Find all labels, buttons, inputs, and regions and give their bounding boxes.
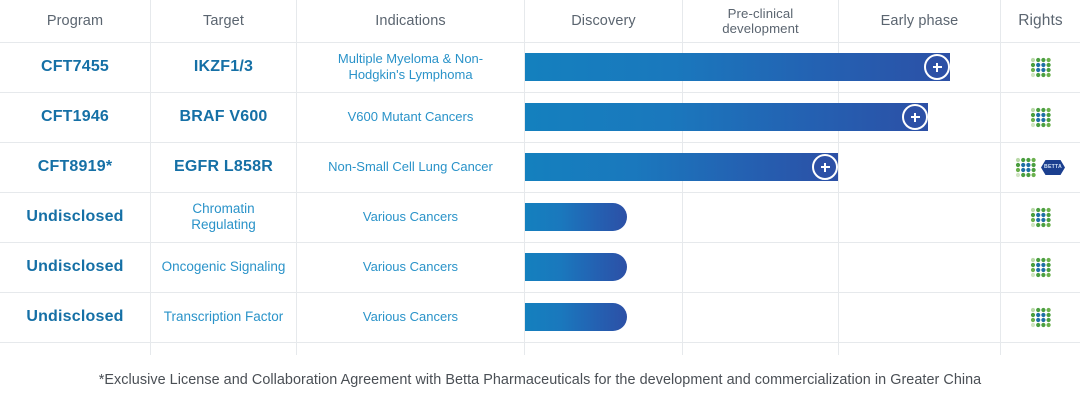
- cell-program: Undisclosed: [0, 242, 150, 292]
- cell-indications: Various Cancers: [297, 192, 524, 242]
- cell-indications: Various Cancers: [297, 292, 524, 342]
- column-header-rights: Rights: [1001, 0, 1080, 42]
- cell-target: Transcription Factor: [151, 292, 296, 342]
- cell-program: Undisclosed: [0, 292, 150, 342]
- c4t-grid-logo-icon: [1030, 57, 1052, 78]
- cell-program: Undisclosed: [0, 192, 150, 242]
- cell-program: CFT1946: [0, 92, 150, 142]
- cell-rights: [1001, 242, 1080, 292]
- cell-program: CFT8919*: [0, 142, 150, 192]
- progress-bar[interactable]: [525, 203, 627, 231]
- progress-bar[interactable]: [525, 103, 928, 131]
- c4t-grid-logo-icon: [1030, 107, 1052, 128]
- column-header-preclinical-line2: development: [722, 21, 799, 36]
- column-header-program: Program: [0, 0, 150, 42]
- indication-line2: Hodgkin's Lymphoma: [348, 67, 472, 83]
- betta-badge-label: BETTA: [1044, 164, 1062, 170]
- footnote-text: *Exclusive License and Collaboration Agr…: [0, 372, 1080, 388]
- progress-bar-track: [525, 92, 1001, 142]
- cell-rights: [1001, 42, 1080, 92]
- column-header-preclinical-line1: Pre-clinical: [728, 6, 794, 21]
- progress-bar-track: [525, 292, 1001, 342]
- column-header-indications: Indications: [297, 0, 524, 42]
- target-line2: Regulating: [191, 217, 256, 233]
- target-line1: Chromatin: [192, 201, 254, 217]
- cell-rights: [1001, 192, 1080, 242]
- cell-indications: V600 Mutant Cancers: [297, 92, 524, 142]
- cell-rights: [1001, 292, 1080, 342]
- table-row[interactable]: CFT7455 IKZF1/3 Multiple Myeloma & Non- …: [0, 42, 1080, 93]
- table-row[interactable]: Undisclosed Chromatin Regulating Various…: [0, 192, 1080, 243]
- progress-bar-track: [525, 192, 1001, 242]
- c4t-grid-logo-icon: [1015, 157, 1037, 178]
- progress-bar[interactable]: [525, 53, 950, 81]
- table-row[interactable]: Undisclosed Oncogenic Signaling Various …: [0, 242, 1080, 293]
- cell-rights: [1001, 92, 1080, 142]
- progress-bar[interactable]: [525, 303, 627, 331]
- pipeline-table: Program Target Indications Discovery Pre…: [0, 0, 1080, 355]
- cell-indications: Multiple Myeloma & Non- Hodgkin's Lympho…: [297, 42, 524, 92]
- column-header-early-phase: Early phase: [839, 0, 1000, 42]
- column-header-target: Target: [151, 0, 296, 42]
- c4t-grid-logo-icon: [1030, 307, 1052, 328]
- table-row[interactable]: CFT8919* EGFR L858R Non-Small Cell Lung …: [0, 142, 1080, 193]
- cell-target: IKZF1/3: [151, 42, 296, 92]
- c4t-grid-logo-icon: [1030, 257, 1052, 278]
- progress-bar-track: [525, 242, 1001, 292]
- expand-plus-icon[interactable]: [812, 154, 838, 180]
- progress-bar[interactable]: [525, 253, 627, 281]
- indication-line1: Multiple Myeloma & Non-: [338, 51, 483, 67]
- cell-target: Chromatin Regulating: [151, 192, 296, 242]
- expand-plus-icon[interactable]: [924, 54, 950, 80]
- cell-indications: Non-Small Cell Lung Cancer: [297, 142, 524, 192]
- column-header-preclinical-development: Pre-clinical development: [683, 0, 838, 42]
- cell-indications: Various Cancers: [297, 242, 524, 292]
- progress-bar-track: [525, 42, 1001, 92]
- table-row[interactable]: Undisclosed Transcription Factor Various…: [0, 292, 1080, 343]
- table-row[interactable]: CFT1946 BRAF V600 V600 Mutant Cancers: [0, 92, 1080, 143]
- betta-pharmaceuticals-badge-icon: BETTA: [1040, 159, 1066, 176]
- table-header-row: Program Target Indications Discovery Pre…: [0, 0, 1080, 43]
- cell-program: CFT7455: [0, 42, 150, 92]
- progress-bar[interactable]: [525, 153, 838, 181]
- progress-bar-track: [525, 142, 1001, 192]
- cell-target: EGFR L858R: [151, 142, 296, 192]
- cell-target: Oncogenic Signaling: [151, 242, 296, 292]
- cell-rights: BETTA: [1001, 142, 1080, 192]
- expand-plus-icon[interactable]: [902, 104, 928, 130]
- column-header-discovery: Discovery: [525, 0, 682, 42]
- c4t-grid-logo-icon: [1030, 207, 1052, 228]
- cell-target: BRAF V600: [151, 92, 296, 142]
